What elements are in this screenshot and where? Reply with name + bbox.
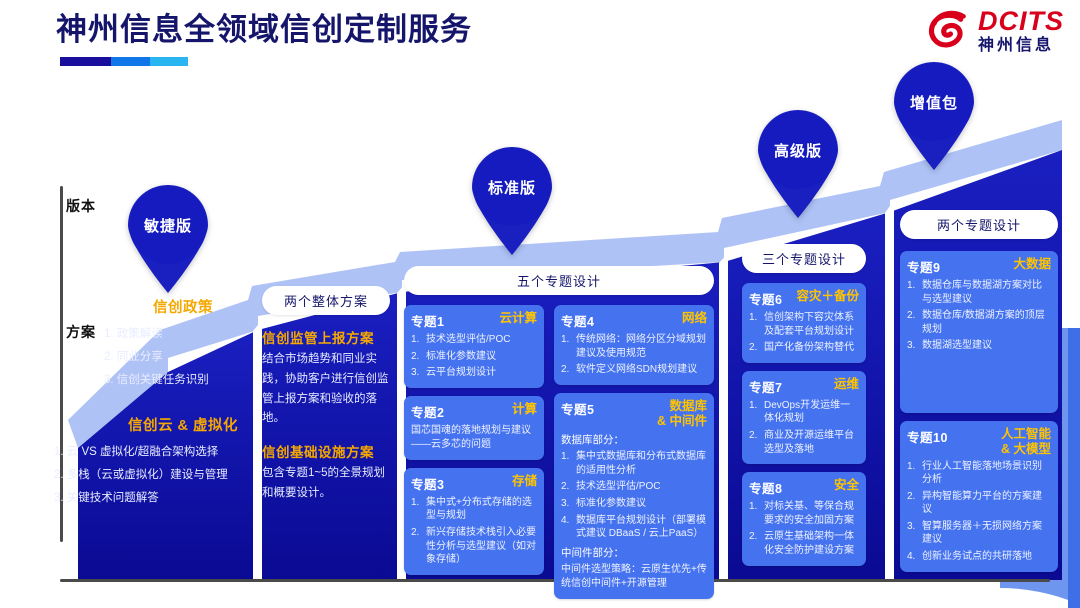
topic-2-no: 专题2: [411, 402, 444, 421]
list-item: 2.软件定义网络SDN规划建议: [561, 363, 707, 377]
slide-root: 版本 方案 神州信息全领域信创定制服务 DCITS 神州信息 敏捷版 标准版 高…: [0, 0, 1080, 608]
topic-4-list: 1.传统网络：网络分区分域规划建议及使用规范 2.软件定义网络SDN规划建议: [561, 333, 707, 377]
topic-card-9[interactable]: 专题9 大数据 1.数据仓库与数据湖方案对比与选型建议 2.数据仓库/数据湖方案…: [900, 251, 1058, 413]
list-item: 1.传统网络：网络分区分域规划建议及使用规范: [561, 333, 707, 360]
column-two-topics: 两个专题设计 专题9 大数据 1.数据仓库与数据湖方案对比与选型建议 2.数据仓…: [900, 210, 1058, 572]
topic-1-tag: 云计算: [499, 311, 537, 326]
pin-label-agile: 敏捷版: [122, 215, 214, 236]
list-item: 2.商业及开源运维平台选型及落地: [749, 429, 859, 456]
pin-marker-valueadd[interactable]: 增值包: [888, 60, 980, 172]
topic-5-sub-db: 数据库部分：: [561, 432, 707, 447]
pin-marker-advanced[interactable]: 高级版: [752, 108, 844, 220]
topic-1-no: 专题1: [411, 311, 444, 330]
pin-label-standard: 标准版: [466, 177, 558, 198]
topic-10-list: 1.行业人工智能落地场景识别分析 2.异构智能算力平台的方案建议 3.智算服务器…: [907, 460, 1051, 564]
pin-label-advanced: 高级版: [752, 140, 844, 161]
list-item: 2.异构智能算力平台的方案建议: [907, 490, 1051, 517]
column-standard-solutions: 两个整体方案 信创监管上报方案 结合市场趋势和同业实践，协助客户进行信创监管上报…: [262, 286, 390, 504]
topic-4-no: 专题4: [561, 311, 594, 330]
topic-5-sub-mw: 中间件部分：: [561, 545, 707, 560]
agile-group2-list: 1. 云 VS 虚拟化/超融合架构选择 2. 多栈（云或虚拟化）建设与管理 3.…: [54, 441, 270, 510]
list-item: 2. 同业分享: [104, 346, 262, 369]
logo-text-cn: 神州信息: [978, 38, 1064, 54]
topic-7-list: 1.DevOps开发运维一体化规划 2.商业及开源运维平台选型及落地: [749, 399, 859, 456]
list-item: 1.集中式+分布式存储的选型与规划: [411, 496, 537, 523]
topic-card-7[interactable]: 专题7 运维 1.DevOps开发运维一体化规划 2.商业及开源运维平台选型及落…: [742, 371, 866, 464]
list-item: 3.标准化参数建议: [561, 497, 707, 511]
list-item: 1.技术选型评估/POC: [411, 333, 537, 347]
list-item: 4.创新业务试点的共研落地: [907, 550, 1051, 564]
topic-7-no: 专题7: [749, 377, 782, 396]
list-item: 3.智算服务器＋无损网络方案建议: [907, 520, 1051, 547]
list-item: 2.技术选型评估/POC: [561, 480, 707, 494]
topic-card-8[interactable]: 专题8 安全 1.对标关基、等保合规要求的安全加固方案 2.云原生基础架构一体化…: [742, 472, 866, 565]
page-title-group: 神州信息全领域信创定制服务: [56, 10, 472, 66]
topic-card-6[interactable]: 专题6 容灾＋备份 1.信创架构下容灾体系及配套平台规划设计 2.国产化备份架构…: [742, 283, 866, 363]
solution-2-text: 包含专题1~5的全景规划和概要设计。: [262, 464, 390, 504]
list-item: 3.数据湖选型建议: [907, 339, 1051, 353]
pin-label-valueadd: 增值包: [888, 92, 980, 113]
column-three-topics: 三个专题设计 专题6 容灾＋备份 1.信创架构下容灾体系及配套平台规划设计 2.…: [742, 244, 866, 566]
pin-marker-standard[interactable]: 标准版: [466, 145, 558, 257]
topic-card-10[interactable]: 专题10 人工智能 & 大模型 1.行业人工智能落地场景识别分析 2.异构智能算…: [900, 421, 1058, 572]
topic-3-tag: 存储: [512, 474, 537, 489]
list-item: 2.新兴存储技术栈引入必要性分析与选型建议（如对象存储）: [411, 526, 537, 567]
topic-8-no: 专题8: [749, 478, 782, 497]
list-item: 1.信创架构下容灾体系及配套平台规划设计: [749, 311, 859, 338]
topic-6-no: 专题6: [749, 289, 782, 308]
topic-5-no: 专题5: [561, 399, 594, 418]
topic-3-list: 1.集中式+分布式存储的选型与规划 2.新兴存储技术栈引入必要性分析与选型建议（…: [411, 496, 537, 567]
topic-9-list: 1.数据仓库与数据湖方案对比与选型建议 2.数据仓库/数据湖方案的顶层规划 3.…: [907, 279, 1051, 353]
axis-label-solution: 方案: [66, 322, 96, 342]
list-item: 1.数据仓库与数据湖方案对比与选型建议: [907, 279, 1051, 306]
pin-marker-agile[interactable]: 敏捷版: [122, 183, 214, 295]
topic-3-no: 专题3: [411, 474, 444, 493]
list-item: 3. 信创关键任务识别: [104, 369, 262, 392]
topic-card-2[interactable]: 专题2 计算 国芯国魂的落地规划与建议——云多芯的问题: [404, 396, 544, 460]
topic-6-tag: 容灾＋备份: [796, 289, 859, 304]
list-item: 1.对标关基、等保合规要求的安全加固方案: [749, 500, 859, 527]
list-item: 1.集中式数据库和分布式数据库的适用性分析: [561, 450, 707, 477]
topic-8-list: 1.对标关基、等保合规要求的安全加固方案 2.云原生基础架构一体化安全防护建设方…: [749, 500, 859, 557]
list-item: 1. 云 VS 虚拟化/超融合架构选择: [54, 441, 270, 464]
topic-9-tag: 大数据: [1013, 257, 1051, 272]
column-agile: 信创政策 1. 政策解读 2. 同业分享 3. 信创关键任务识别 信创云 & 虚…: [104, 296, 262, 510]
solution-block-1: 信创监管上报方案 结合市场趋势和同业实践，协助客户进行信创监管上报方案和验收的落…: [262, 327, 390, 429]
topic-2-text: 国芯国魂的落地规划与建议——云多芯的问题: [411, 424, 537, 452]
list-item: 1.行业人工智能落地场景识别分析: [907, 460, 1051, 487]
topic-8-tag: 安全: [834, 478, 859, 493]
axis-label-version: 版本: [66, 196, 96, 216]
topic-4-tag: 网络: [682, 311, 707, 326]
dcits-swirl-icon: [927, 9, 971, 53]
topic-2-tag: 计算: [512, 402, 537, 417]
pill-two-topics[interactable]: 两个专题设计: [900, 210, 1058, 239]
list-item: 2.国产化备份架构替代: [749, 341, 859, 355]
topic-7-tag: 运维: [834, 377, 859, 392]
list-item: 3.云平台规划设计: [411, 366, 537, 380]
agile-group1-list: 1. 政策解读 2. 同业分享 3. 信创关键任务识别: [104, 323, 262, 392]
topic-5-tag: 数据库 & 中间件: [657, 399, 707, 429]
list-item: 2.标准化参数建议: [411, 350, 537, 364]
title-underline: [60, 57, 188, 66]
list-item: 1.DevOps开发运维一体化规划: [749, 399, 859, 426]
topic-5-mw-text: 中间件选型策略：云原生优先+传统信创中间件+开源管理: [561, 563, 707, 591]
pill-three-topics[interactable]: 三个专题设计: [742, 244, 866, 273]
logo-text-en: DCITS: [978, 8, 1064, 35]
list-item: 2.云原生基础架构一体化安全防护建设方案: [749, 530, 859, 557]
topic-6-list: 1.信创架构下容灾体系及配套平台规划设计 2.国产化备份架构替代: [749, 311, 859, 355]
solution-1-text: 结合市场趋势和同业实践，协助客户进行信创监管上报方案和验收的落地。: [262, 350, 390, 429]
list-item: 1. 政策解读: [104, 323, 262, 346]
topic-10-no: 专题10: [907, 427, 948, 446]
solution-2-title: 信创基础设施方案: [262, 441, 390, 461]
solution-1-title: 信创监管上报方案: [262, 327, 390, 347]
list-item: 4.数据库平台规划设计（部署模式建议 DBaaS / 云上PaaS）: [561, 514, 707, 541]
page-title: 神州信息全领域信创定制服务: [56, 10, 472, 50]
topic-card-3[interactable]: 专题3 存储 1.集中式+分布式存储的选型与规划 2.新兴存储技术栈引入必要性分…: [404, 468, 544, 575]
topic-card-4[interactable]: 专题4 网络 1.传统网络：网络分区分域规划建议及使用规范 2.软件定义网络SD…: [554, 305, 714, 385]
topic-5-list: 1.集中式数据库和分布式数据库的适用性分析 2.技术选型评估/POC 3.标准化…: [561, 450, 707, 541]
topic-1-list: 1.技术选型评估/POC 2.标准化参数建议 3.云平台规划设计: [411, 333, 537, 380]
topic-10-tag: 人工智能 & 大模型: [1001, 427, 1051, 457]
list-item: 2.数据仓库/数据湖方案的顶层规划: [907, 309, 1051, 336]
dcits-logo: DCITS 神州信息: [927, 8, 1064, 54]
list-item: 3. 关键技术问题解答: [54, 487, 270, 510]
solution-block-2: 信创基础设施方案 包含专题1~5的全景规划和概要设计。: [262, 441, 390, 504]
pill-five-topics[interactable]: 五个专题设计: [404, 266, 714, 295]
topic-card-5[interactable]: 专题5 数据库 & 中间件 数据库部分： 1.集中式数据库和分布式数据库的适用性…: [554, 393, 714, 599]
column-five-topics: 五个专题设计 专题1 云计算 1.技术选型评估/POC 2.标准化参数建议 3.…: [404, 266, 714, 599]
agile-group2-title: 信创云 & 虚拟化: [104, 414, 262, 435]
list-item: 2. 多栈（云或虚拟化）建设与管理: [54, 464, 270, 487]
topic-9-no: 专题9: [907, 257, 940, 276]
topic-card-1[interactable]: 专题1 云计算 1.技术选型评估/POC 2.标准化参数建议 3.云平台规划设计: [404, 305, 544, 388]
agile-group1-title: 信创政策: [104, 296, 262, 317]
pill-two-overall-solutions[interactable]: 两个整体方案: [262, 286, 390, 315]
